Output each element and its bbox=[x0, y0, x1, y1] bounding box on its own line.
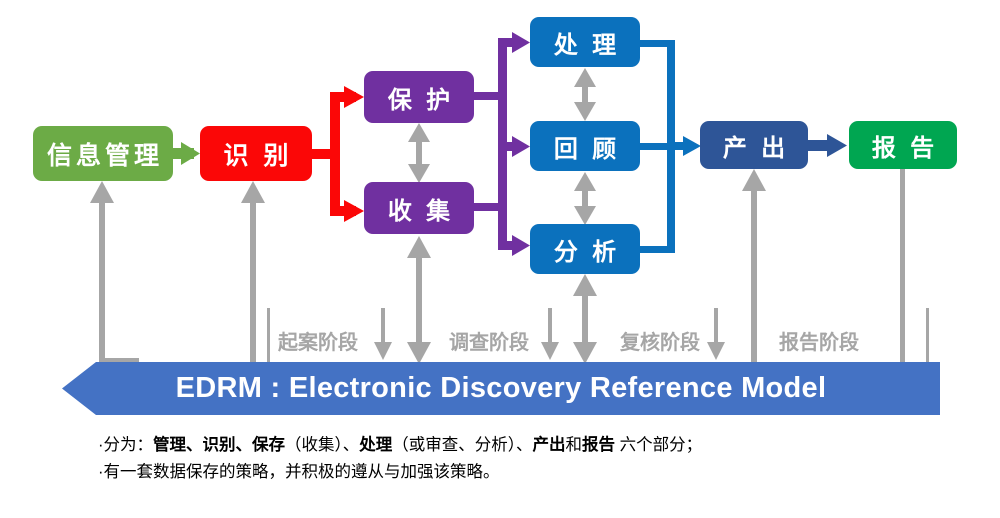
gray-stage-tick-1 bbox=[374, 308, 392, 360]
footnote-segment: 处理 bbox=[359, 436, 392, 454]
footnote-segment: 管理、识别、保存 bbox=[153, 436, 285, 454]
node-analysis[interactable]: 分 析 bbox=[530, 224, 640, 274]
stage-label-investigation: 调查阶段 bbox=[449, 326, 529, 355]
green-arrow-info-to-identification bbox=[172, 142, 200, 165]
node-label: 信息管理 bbox=[43, 136, 163, 172]
gray-arrow-production bbox=[742, 169, 766, 364]
gray-arrow-info bbox=[90, 181, 139, 364]
banner-label: EDRM : Electronic Discovery Reference Mo… bbox=[176, 372, 827, 405]
footnote-segment: （收集）、 bbox=[285, 436, 359, 454]
footnote-segment: （或审查、分析）、 bbox=[392, 436, 532, 454]
stage-label-reporting: 报告阶段 bbox=[779, 326, 859, 355]
stage-label-review: 复核阶段 bbox=[620, 326, 700, 355]
node-label: 分 析 bbox=[550, 232, 620, 267]
edrm-diagram: 信息管理 识 别 保 护 收 集 处 理 回 顾 分 析 产 出 报 告 起案阶… bbox=[0, 0, 1000, 518]
node-preservation[interactable]: 保 护 bbox=[364, 71, 474, 123]
gray-double-arrow-review-analyze bbox=[574, 172, 596, 225]
gray-stage-divider-right bbox=[926, 308, 929, 364]
footnotes: ·分为：管理、识别、保存（收集）、处理（或审查、分析）、产出和报告 六个部分； … bbox=[98, 432, 928, 486]
node-label: 报 告 bbox=[868, 128, 938, 163]
gray-arrow-identification bbox=[241, 181, 265, 364]
gray-arrow-analysis bbox=[573, 274, 597, 364]
node-review[interactable]: 回 顾 bbox=[530, 121, 640, 171]
node-label: 保 护 bbox=[384, 80, 454, 115]
footnote-segment: 分为： bbox=[104, 436, 154, 454]
red-branch-identification bbox=[311, 86, 364, 222]
edrm-banner: EDRM : Electronic Discovery Reference Mo… bbox=[62, 362, 940, 415]
gray-stage-divider-left bbox=[267, 308, 270, 364]
node-label: 识 别 bbox=[220, 136, 293, 172]
footnote-segment: 和 bbox=[566, 436, 583, 454]
node-production[interactable]: 产 出 bbox=[700, 121, 808, 169]
gray-double-arrow-protect-collect bbox=[408, 123, 430, 183]
gray-arrow-collection bbox=[407, 236, 431, 364]
gray-stage-tick-2 bbox=[541, 308, 559, 360]
node-label: 收 集 bbox=[384, 191, 454, 226]
purple-branch-preservation-collection bbox=[472, 32, 530, 256]
footnote-segment: 有一套数据保存的策略，并积极的遵从与加强该策略。 bbox=[104, 463, 500, 481]
node-collection[interactable]: 收 集 bbox=[364, 182, 474, 234]
navy-arrow-production-to-presentation bbox=[807, 134, 847, 157]
gray-stage-tick-3 bbox=[707, 308, 725, 360]
node-label: 处 理 bbox=[550, 25, 620, 60]
footnote-line-1: ·分为：管理、识别、保存（收集）、处理（或审查、分析）、产出和报告 六个部分； bbox=[98, 432, 928, 459]
gray-double-arrow-process-review bbox=[574, 68, 596, 121]
blue-merge-to-production bbox=[638, 40, 701, 253]
footnote-line-2: ·有一套数据保存的策略，并积极的遵从与加强该策略。 bbox=[98, 459, 928, 486]
node-information-management[interactable]: 信息管理 bbox=[33, 126, 173, 181]
stage-label-initiation: 起案阶段 bbox=[278, 326, 358, 355]
node-identification[interactable]: 识 别 bbox=[200, 126, 312, 181]
node-label: 回 顾 bbox=[550, 129, 620, 164]
node-processing[interactable]: 处 理 bbox=[530, 17, 640, 67]
node-presentation[interactable]: 报 告 bbox=[849, 121, 957, 169]
node-label: 产 出 bbox=[719, 128, 789, 163]
footnote-segment: 六个部分； bbox=[615, 436, 702, 454]
footnote-segment: 报告 bbox=[582, 436, 615, 454]
footnote-segment: 产出 bbox=[533, 436, 566, 454]
gray-line-presentation bbox=[900, 169, 905, 364]
